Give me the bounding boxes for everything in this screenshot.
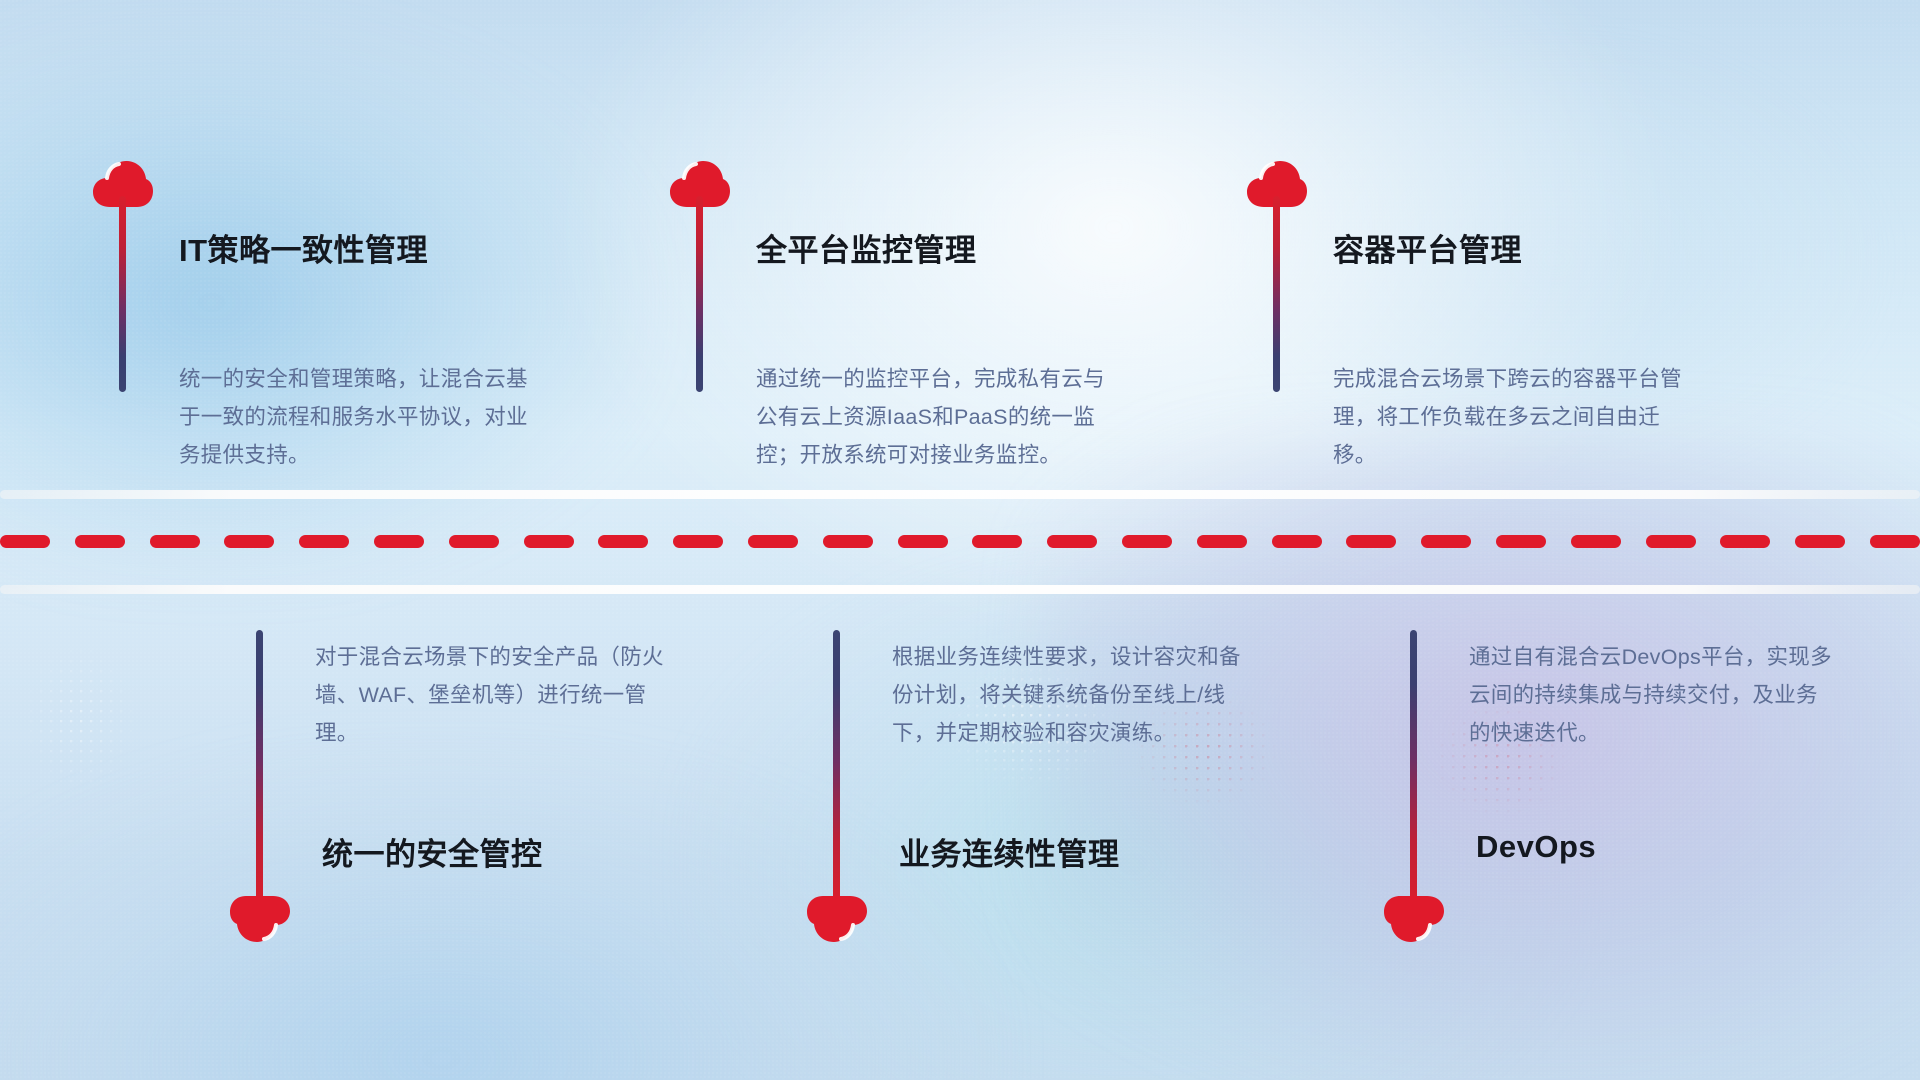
- road-dash-segment: [972, 535, 1022, 548]
- road-dash-segment: [1122, 535, 1172, 548]
- cloud-icon: [229, 895, 291, 943]
- road-dash-segment: [673, 535, 723, 548]
- road-dash-segment: [1496, 535, 1546, 548]
- road-dash-segment: [1272, 535, 1322, 548]
- road-dash-segment: [224, 535, 274, 548]
- road-dash-segment: [1795, 535, 1845, 548]
- dot-texture-cluster: [20, 640, 140, 800]
- road-dash-segment: [1047, 535, 1097, 548]
- road-dash-segment: [1870, 535, 1920, 548]
- road-dash-segment: [75, 535, 125, 548]
- bottom-item-description: 通过自有混合云DevOps平台，实现多云间的持续集成与持续交付，及业务的快速迭代…: [1469, 638, 1839, 752]
- top-item-description: 完成混合云场景下跨云的容器平台管理，将工作负载在多云之间自由迁移。: [1333, 360, 1703, 474]
- top-item-description: 统一的安全和管理策略，让混合云基于一致的流程和服务水平协议，对业务提供支持。: [179, 360, 549, 474]
- bottom-item-title: 统一的安全管控: [322, 829, 543, 874]
- road-edge-line-bottom: [0, 585, 1920, 594]
- road-edge-line-top: [0, 490, 1920, 499]
- bottom-item-title: DevOps: [1476, 829, 1596, 865]
- top-item-title: 全平台监控管理: [756, 225, 977, 270]
- road-dash-segment: [898, 535, 948, 548]
- road-dash-segment: [374, 535, 424, 548]
- bottom-item-description: 对于混合云场景下的安全产品（防火墙、WAF、堡垒机等）进行统一管理。: [315, 638, 685, 752]
- road-dash-segment: [1421, 535, 1471, 548]
- road-dash-segment: [0, 535, 50, 548]
- cloud-icon: [1383, 895, 1445, 943]
- road-dash-segment: [449, 535, 499, 548]
- top-item-description: 通过统一的监控平台，完成私有云与公有云上资源IaaS和PaaS的统一监控；开放系…: [756, 360, 1126, 474]
- road-dash-segment: [748, 535, 798, 548]
- connector-stem: [119, 196, 126, 392]
- cloud-icon: [806, 895, 868, 943]
- connector-stem: [1273, 196, 1280, 392]
- road-dash-segment: [524, 535, 574, 548]
- road-dash-segment: [150, 535, 200, 548]
- road-dash-segment: [823, 535, 873, 548]
- road-dash-segment: [1720, 535, 1770, 548]
- bottom-item-title: 业务连续性管理: [899, 829, 1120, 874]
- road-center-dashes: [0, 535, 1920, 548]
- top-item-title: 容器平台管理: [1333, 225, 1522, 270]
- infographic-stage: IT策略一致性管理 统一的安全和管理策略，让混合云基于一致的流程和服务水平协议，…: [0, 0, 1920, 1080]
- road-dash-segment: [1646, 535, 1696, 548]
- road-dash-segment: [598, 535, 648, 548]
- road-divider: [0, 485, 1920, 600]
- road-dash-segment: [1197, 535, 1247, 548]
- connector-stem: [696, 196, 703, 392]
- road-dash-segment: [1571, 535, 1621, 548]
- connector-stem: [1410, 630, 1417, 900]
- top-item-title: IT策略一致性管理: [179, 225, 428, 270]
- road-dash-segment: [299, 535, 349, 548]
- bottom-item-description: 根据业务连续性要求，设计容灾和备份计划，将关键系统备份至线上/线下，并定期校验和…: [892, 638, 1262, 752]
- connector-stem: [833, 630, 840, 900]
- road-dash-segment: [1346, 535, 1396, 548]
- connector-stem: [256, 630, 263, 900]
